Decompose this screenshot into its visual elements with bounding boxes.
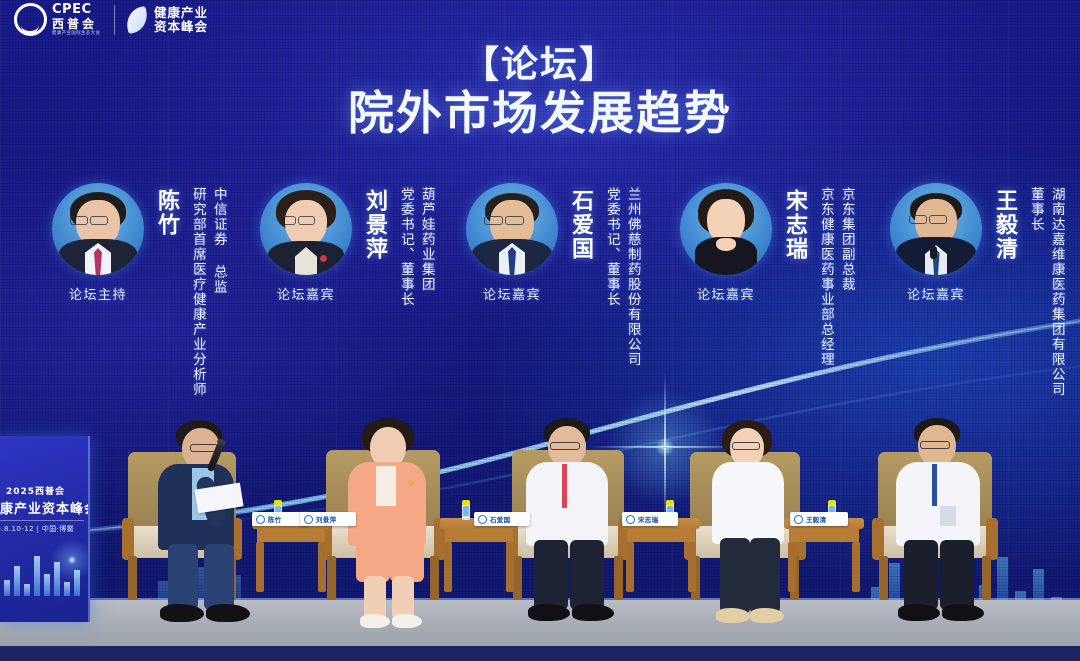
- panelist-name-4: 王毅清: [988, 189, 1020, 261]
- side-table-3: [784, 518, 864, 594]
- panelist-avatar-3: [680, 183, 772, 275]
- side-table-1: [440, 518, 518, 594]
- podium-banner: 2025西普会 健康产业资本峰会 2025.8.10-12 | 中国·博鳌: [0, 436, 90, 622]
- panelist-org-3: 京东集团副总裁 京东健康医药事业部总经理: [813, 187, 855, 367]
- panelist-role-3: 论坛嘉宾: [697, 284, 755, 303]
- leaf-icon: [126, 8, 148, 32]
- panelist-card-1: 论坛嘉宾 刘景萍 葫芦娃药业集团 党委书记、董事长: [256, 183, 435, 307]
- cpec-logo-cn: 西普会: [52, 18, 103, 30]
- panelist-org-3-col1: 京东集团副总裁: [838, 187, 855, 367]
- nameplate-logo-icon-4: [794, 515, 803, 524]
- panelist-role-0: 论坛主持: [69, 284, 127, 303]
- panelist-org-1-col2: 党委书记、董事长: [397, 187, 414, 307]
- summit-logo-line2: 资本峰会: [154, 20, 208, 34]
- panelist-card-0: 论坛主持 陈竹 中信证券 总监 研究部首席医疗健康产业分析师: [48, 183, 227, 397]
- podium-divider: [0, 520, 84, 521]
- panelist-org-1: 葫芦娃药业集团 党委书记、董事长: [393, 187, 435, 307]
- forum-title-line2: 院外市场发展趋势: [0, 87, 1080, 140]
- logo-divider: [114, 5, 115, 35]
- panelist-org-1-col1: 葫芦娃药业集团: [418, 187, 435, 307]
- stage-floor-front-strip: [0, 646, 1080, 661]
- panelist-org-4-col2: 董事长: [1027, 187, 1044, 397]
- nameplate-text-4: 王毅清: [806, 514, 826, 524]
- nameplate-logo-icon-1: [304, 515, 313, 524]
- podium-date-line: 2025.8.10-12 | 中国·博鳌: [0, 524, 74, 534]
- nameplate-text-2: 石爱国: [490, 514, 510, 524]
- panelist-role-2: 论坛嘉宾: [483, 284, 541, 303]
- panelist-card-4: 论坛嘉宾 王毅清 湖南达嘉维康医药集团有限公司 董事长: [886, 183, 1065, 397]
- panelist-org-0: 中信证券 总监 研究部首席医疗健康产业分析师: [185, 187, 227, 397]
- panelist-name-0: 陈竹: [150, 189, 182, 237]
- panelist-name-3: 宋志瑞: [778, 189, 810, 261]
- cpec-logo-subtitle: 健康产业国际生态大会: [52, 32, 100, 36]
- nameplate-text-1: 刘景萍: [316, 514, 336, 524]
- cpec-logo: CPEC 西普会 健康产业国际生态大会: [14, 3, 103, 37]
- summit-logo: 健康产业 资本峰会: [126, 6, 208, 33]
- nameplate-text-3: 宋志瑞: [638, 514, 658, 524]
- panelist-org-4-col1: 湖南达嘉维康医药集团有限公司: [1048, 187, 1065, 397]
- nameplate-4: 王毅清: [790, 512, 848, 526]
- podium-year-line: 2025西普会: [6, 484, 65, 497]
- panelist-avatar-1: [260, 183, 352, 275]
- panelist-avatar-4: [890, 183, 982, 275]
- nameplate-3: 宋志瑞: [622, 512, 678, 526]
- side-table-0: [252, 518, 330, 594]
- forum-title-block: 【论坛】 院外市场发展趋势: [0, 44, 1080, 141]
- conference-stage-screenshot: CPEC 西普会 健康产业国际生态大会 健康产业 资本峰会 【论坛】 院外市场发…: [0, 0, 1080, 661]
- panelist-card-3: 论坛嘉宾 宋志瑞 京东集团副总裁 京东健康医药事业部总经理: [676, 183, 855, 367]
- water-bottle-1: [462, 500, 470, 520]
- nameplate-2: 石爱国: [474, 512, 530, 526]
- event-logo-bar: CPEC 西普会 健康产业国际生态大会 健康产业 资本峰会: [14, 3, 208, 37]
- cpec-logo-en: CPEC: [52, 3, 103, 16]
- summit-logo-line1: 健康产业: [154, 6, 208, 20]
- panelist-org-2: 兰州佛慈制药股份有限公司 党委书记、董事长: [599, 187, 641, 367]
- panelist-avatar-2: [466, 183, 558, 275]
- nameplate-1: 刘景萍: [300, 512, 356, 526]
- panelist-org-2-col1: 兰州佛慈制药股份有限公司: [624, 187, 641, 367]
- side-table-2: [622, 518, 700, 594]
- podium-bar-chart: [4, 556, 80, 596]
- panelist-avatar-0: [52, 183, 144, 275]
- panelist-card-row: 论坛主持 陈竹 中信证券 总监 研究部首席医疗健康产业分析师: [0, 183, 1080, 433]
- panelist-name-2: 石爱国: [564, 189, 596, 261]
- panelist-org-2-col2: 党委书记、董事长: [603, 187, 620, 367]
- forum-title-line1: 【论坛】: [0, 44, 1080, 85]
- nameplate-logo-icon-0: [256, 515, 265, 524]
- panelist-org-3-col2: 京东健康医药事业部总经理: [817, 187, 834, 367]
- panelist-org-0-col1: 中信证券 总监: [210, 187, 227, 397]
- panelist-org-4: 湖南达嘉维康医药集团有限公司 董事长: [1023, 187, 1065, 397]
- panelist-name-1: 刘景萍: [358, 189, 390, 261]
- seated-person-4: [888, 418, 1008, 623]
- panelist-role-1: 论坛嘉宾: [277, 284, 335, 303]
- panelist-role-4: 论坛嘉宾: [907, 284, 965, 303]
- nameplate-logo-icon-2: [478, 515, 487, 524]
- panelist-org-0-col2: 研究部首席医疗健康产业分析师: [189, 187, 206, 397]
- podium-title-line: 健康产业资本峰会: [0, 498, 90, 517]
- seated-person-2: [518, 418, 636, 623]
- circle-logo-icon: [14, 3, 47, 36]
- nameplate-text-0: 陈竹: [268, 514, 282, 524]
- nameplate-logo-icon-3: [626, 515, 635, 524]
- panelist-card-2: 论坛嘉宾 石爱国 兰州佛慈制药股份有限公司 党委书记、董事长: [462, 183, 641, 367]
